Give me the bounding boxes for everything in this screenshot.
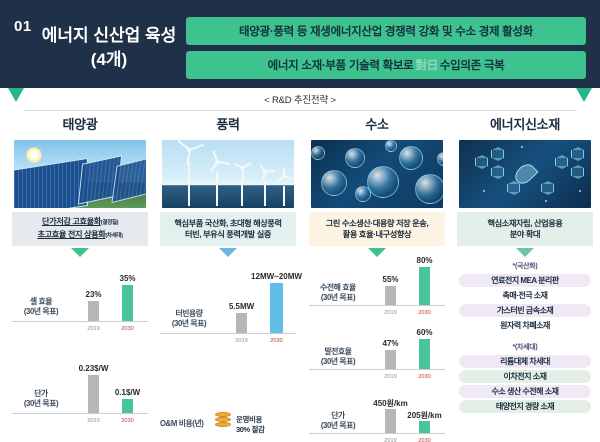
bar-year: 2030 xyxy=(418,310,430,316)
bar-2030: 205원/km 2030 xyxy=(419,421,430,433)
bar-value: 47% xyxy=(382,339,398,348)
chart-label: 단가(30년 목표) xyxy=(12,389,70,409)
list-item: 원자력 차폐소재 xyxy=(459,319,591,332)
solar-desc-line2: 초고효율 전지 상용화 xyxy=(37,230,105,239)
column-desc-hydrogen: 그린 수소생산·대용량 저장 운송, 활용 효율·내구성향상 xyxy=(309,212,445,246)
section-title: 에너지 신산업 육성(4개) xyxy=(36,24,182,72)
bar-2030: 12MW~20MW 2030 xyxy=(270,283,283,333)
list-item: 촉매·전극 소재 xyxy=(459,289,591,302)
chart-solar-unit-price: 단가(30년 목표) 0.23$/W 2019 0.1$/W 2030 xyxy=(10,351,150,425)
down-arrow-icon-solar xyxy=(71,248,89,257)
energy-material-photo xyxy=(459,140,591,208)
bar-year: 2019 xyxy=(235,338,247,344)
header-divider xyxy=(24,110,576,111)
list-item: 수소 생산 수전해 소재 xyxy=(459,385,591,398)
list-item: 리튬대체 차세대 xyxy=(459,355,591,368)
slide-header: 01 에너지 신산업 육성(4개) 태양광·풍력 등 재생에너지산업 경쟁력 강… xyxy=(0,0,600,88)
bar-2019: 23% 2019 xyxy=(88,301,99,321)
bar-2019: 450원/km 2019 xyxy=(385,409,396,433)
bar-year: 2019 xyxy=(384,374,396,380)
hydrogen-desc-line2: 활용 효율·내구성향상 xyxy=(343,230,411,239)
chart-label: 단가(30년 목표) xyxy=(309,411,367,431)
bar-year: 2030 xyxy=(270,338,282,344)
wind-turbine-photo xyxy=(162,140,294,208)
bar-2019: 0.23$/W 2019 xyxy=(88,375,99,413)
material-list-nextgen: *(차세대) 리튬대체 차세대 이차전지 소재 수소 생산 수전해 소재 태양전… xyxy=(459,342,591,413)
oam-text: 운영비용 30% 절감 xyxy=(236,415,265,435)
bar-year: 2019 xyxy=(87,326,99,332)
bar-2030: 35% 2030 xyxy=(122,285,133,321)
column-desc-solar: 단가저감 고효율화(결정질) 초고효율 전지 상용화(차세대) xyxy=(12,212,148,246)
chart-hydrogen-unit-price: 단가(30년 목표) 450원/km 2019 205원/km 2030 xyxy=(307,387,447,442)
list-head: *(차세대) xyxy=(459,342,591,352)
oam-cost-row: O&M 비용(년) 운영비용 30% 절감 xyxy=(158,409,298,442)
bar-value: 12MW~20MW xyxy=(251,272,302,281)
bar-value: 60% xyxy=(416,328,432,337)
solar-desc-line1: 단가저감 고효율화 xyxy=(42,217,101,226)
chart-label: 셀 효율(30년 목표) xyxy=(12,297,70,317)
rd-strategy-label: < R&D 추진전략 > xyxy=(0,92,600,106)
bar-year: 2030 xyxy=(418,374,430,380)
header-banner-2: 에너지 소재·부품 기술력 확보로 對日 수입의존 극복 xyxy=(186,51,586,79)
column-title-wind: 풍력 xyxy=(154,114,302,138)
oam-label: O&M 비용(년) xyxy=(160,418,203,429)
bar-year: 2030 xyxy=(121,326,133,332)
column-solar: 태양광 단가저감 고효율화(결정질) 초고효율 전지 상용화(차세대) 셀 효율… xyxy=(6,114,154,440)
list-item: 이차전지 소재 xyxy=(459,370,591,383)
oam-text-line1: 운영비용 xyxy=(236,415,262,424)
banner2-after: 수입의존 극복 xyxy=(440,57,505,73)
bar-year: 2019 xyxy=(384,438,396,442)
bar-value: 55% xyxy=(382,275,398,284)
header-banner-1: 태양광·풍력 등 재생에너지산업 경쟁력 강화 및 수소 경제 활성화 xyxy=(186,17,586,45)
coins-icon xyxy=(215,412,231,432)
banner2-before: 에너지 소재·부품 기술력 확보로 xyxy=(268,57,414,73)
column-hydrogen: 수소 그린 수소생산·대용량 저장 운송, 활용 효율·내구성향상 xyxy=(303,114,451,440)
chart-solar-cell-efficiency: 셀 효율(30년 목표) 23% 2019 35% 2030 xyxy=(10,259,150,333)
bar-value: 35% xyxy=(119,274,135,283)
down-arrow-icon-wind xyxy=(219,248,237,257)
list-item: 연료전지 MEA 분리판 xyxy=(459,274,591,287)
bar-2030: 80% 2030 xyxy=(419,267,430,305)
bar-value: 0.23$/W xyxy=(79,364,109,373)
column-title-hydrogen: 수소 xyxy=(303,114,451,138)
list-item: 가스터빈 금속소재 xyxy=(459,304,591,317)
bar-year: 2030 xyxy=(121,418,133,424)
column-desc-wind: 핵심부품 국산화, 초대형 해상풍력 터빈, 부유식 풍력개발 실증 xyxy=(160,212,296,246)
bar-2030: 0.1$/W 2030 xyxy=(122,399,133,413)
materials-desc-line2: 분야 확대 xyxy=(510,230,540,239)
bar-value: 23% xyxy=(85,290,101,299)
column-desc-materials: 핵심소재자립, 산업응용 분야 확대 xyxy=(457,212,593,246)
bar-year: 2019 xyxy=(384,310,396,316)
slide-body: < R&D 추진전략 > 태양광 단가저감 고효율화(결정질) 초고효율 전지 … xyxy=(0,88,600,442)
bar-value: 205원/km xyxy=(407,410,442,421)
materials-desc-line1: 핵심소재자립, 산업응용 xyxy=(487,219,562,228)
slide-root: 01 에너지 신산업 육성(4개) 태양광·풍력 등 재생에너지산업 경쟁력 강… xyxy=(0,0,600,442)
column-title-solar: 태양광 xyxy=(6,114,154,138)
solar-desc-small1: (결정질) xyxy=(101,220,118,226)
banner2-hanja: 對日 xyxy=(415,57,437,73)
solar-desc-small2: (차세대) xyxy=(105,233,122,239)
bar-2030: 60% 2030 xyxy=(419,339,430,369)
wind-desc-line1: 핵심부품 국산화, 초대형 해상풍력 xyxy=(174,219,281,228)
wind-desc-line2: 터빈, 부유식 풍력개발 실증 xyxy=(185,230,271,239)
bar-value: 80% xyxy=(416,256,432,265)
hydrogen-bubbles-photo xyxy=(311,140,443,208)
bar-2019: 55% 2019 xyxy=(385,286,396,305)
chart-label: 발전효율(30년 목표) xyxy=(309,347,367,367)
column-title-materials: 에너지신소재 xyxy=(451,114,599,138)
list-head: *(국산화) xyxy=(459,261,591,271)
chart-hydrogen-electrolysis-efficiency: 수전해 효율(30년 목표) 55% 2019 80% 2030 xyxy=(307,259,447,317)
column-materials: 에너지신소재 xyxy=(451,114,599,440)
list-item: 태양전지 경량 소재 xyxy=(459,400,591,413)
material-list-localization: *(국산화) 연료전지 MEA 분리판 촉매·전극 소재 가스터빈 금속소재 원… xyxy=(459,261,591,332)
section-number: 01 xyxy=(14,18,32,35)
chart-wind-turbine-capacity: 터빈용량(30년 목표) 5.5MW 2019 12MW~20MW 2030 xyxy=(158,259,298,345)
chart-label: 터빈용량(30년 목표) xyxy=(160,309,218,329)
hydrogen-desc-line1: 그린 수소생산·대용량 저장 운송, xyxy=(326,219,429,228)
down-arrow-icon-hydrogen xyxy=(368,248,386,257)
down-arrow-icon-materials xyxy=(516,248,534,257)
bar-year: 2019 xyxy=(87,418,99,424)
sun-icon xyxy=(26,147,42,163)
chart-hydrogen-power-efficiency: 발전효율(30년 목표) 47% 2019 60% 2030 xyxy=(307,323,447,381)
bar-year: 2030 xyxy=(418,438,430,442)
bar-value: 450원/km xyxy=(373,398,408,409)
oam-text-line2: 30% 절감 xyxy=(236,425,265,434)
bar-2019: 47% 2019 xyxy=(385,350,396,369)
chart-label: 수전해 효율(30년 목표) xyxy=(309,283,367,303)
bar-value: 0.1$/W xyxy=(115,388,140,397)
bar-2019: 5.5MW 2019 xyxy=(236,313,247,333)
column-wind: 풍력 xyxy=(154,114,302,440)
bar-value: 5.5MW xyxy=(229,302,254,311)
solar-panel-photo xyxy=(14,140,146,208)
